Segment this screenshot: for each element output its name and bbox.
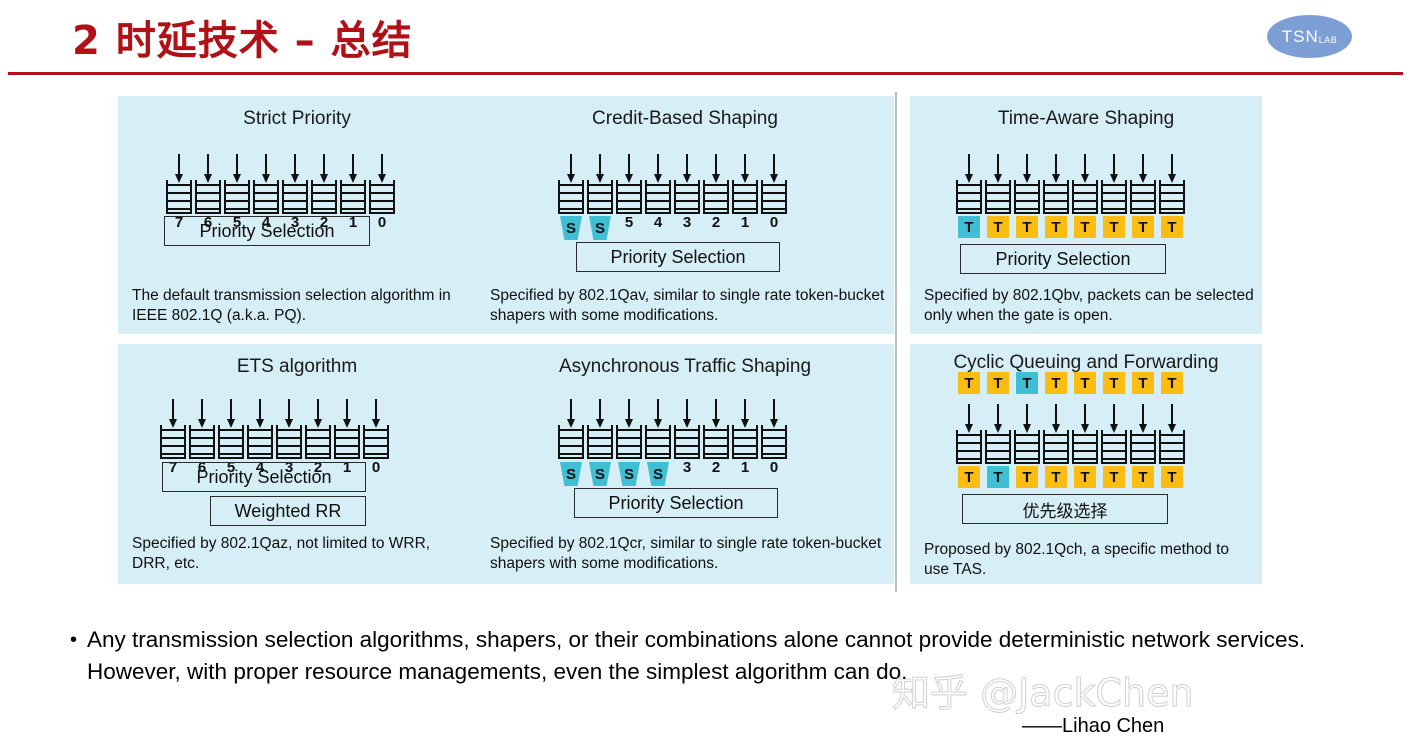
shaper-token: S	[589, 462, 611, 486]
ingress-arrow-icon	[997, 154, 999, 176]
panel-title: ETS algorithm	[118, 356, 476, 378]
queue-slot-line	[589, 184, 611, 186]
queue-slot-line	[705, 208, 727, 210]
queue-slot-line	[191, 453, 213, 455]
ingress-arrow-icon	[997, 404, 999, 426]
queue-box	[1043, 430, 1069, 464]
queue-slot-line	[987, 434, 1009, 436]
queue-slot-line	[705, 192, 727, 194]
gate-token: T	[1074, 216, 1096, 238]
queue-box	[363, 425, 389, 459]
queue-slot-line	[763, 453, 785, 455]
queue-slot-line	[249, 453, 271, 455]
ingress-arrow-icon	[172, 399, 174, 421]
ingress-arrow-icon	[1026, 404, 1028, 426]
queue-slot-line	[307, 445, 329, 447]
gate-token: T	[1016, 216, 1038, 238]
queue-slot-line	[162, 445, 184, 447]
queue-slot-line	[958, 200, 980, 202]
queue-slot-line	[987, 184, 1009, 186]
queue-slot-line	[987, 208, 1009, 210]
queue-slot-line	[365, 453, 387, 455]
ingress-arrow-icon	[744, 154, 746, 176]
queue-slot-line	[1132, 208, 1154, 210]
queue-slot-line	[618, 437, 640, 439]
panel-grid: Strict Priority76543210Priority Selectio…	[0, 92, 1411, 592]
queue-slot-line	[560, 437, 582, 439]
shaper-token: S	[560, 462, 582, 486]
panel-description: Proposed by 802.1Qch, a specific method …	[924, 540, 1254, 580]
queue-slot-line	[1103, 450, 1125, 452]
queue-slot-line	[1045, 458, 1067, 460]
queue-priority-label: 2	[703, 459, 729, 476]
queue-box	[253, 180, 279, 214]
queue-slot-line	[1045, 200, 1067, 202]
logo-text-main: TSN	[1282, 27, 1319, 47]
queue-slot-line	[763, 200, 785, 202]
queue-slot-line	[1016, 200, 1038, 202]
queue-slot-line	[618, 429, 640, 431]
panel-description: Specified by 802.1Qav, similar to single…	[490, 286, 886, 326]
queue-box	[1101, 180, 1127, 214]
panel-2: Credit-Based Shaping76543210SSPriority S…	[476, 96, 894, 334]
ingress-arrow-icon	[773, 399, 775, 421]
queue-slot-line	[958, 442, 980, 444]
summary-bullet-text: Any transmission selection algorithms, s…	[87, 624, 1360, 688]
queue-slot-line	[1132, 458, 1154, 460]
queue-slot-line	[197, 192, 219, 194]
queue-box	[985, 180, 1011, 214]
queue-box	[1130, 430, 1156, 464]
queue-slot-line	[705, 437, 727, 439]
queue-slot-line	[560, 192, 582, 194]
queue-slot-line	[734, 200, 756, 202]
ingress-arrow-icon	[201, 399, 203, 421]
queue-slot-line	[1103, 208, 1125, 210]
slide-header: 2 时延技术 – 总结 TSNLAB	[0, 0, 1411, 80]
panel-title: Time-Aware Shaping	[910, 108, 1262, 130]
queue-box	[761, 180, 787, 214]
queue-slot-line	[1161, 208, 1183, 210]
queue-slot-line	[1132, 442, 1154, 444]
panel-title: Credit-Based Shaping	[476, 108, 894, 130]
gate-token: T	[1045, 216, 1067, 238]
panel-3: Time-Aware Shaping76543210TTTTTTTTPriori…	[910, 96, 1262, 334]
gate-token: T	[1132, 466, 1154, 488]
queue-slot-line	[1103, 458, 1125, 460]
ingress-arrow-icon	[1113, 154, 1115, 176]
queue-slot-line	[284, 184, 306, 186]
ingress-arrow-icon	[968, 404, 970, 426]
queue-slot-line	[1161, 192, 1183, 194]
queue-slot-line	[1132, 192, 1154, 194]
queue-slot-line	[763, 445, 785, 447]
panel-description: The default transmission selection algor…	[132, 286, 468, 326]
queue-slot-line	[1045, 434, 1067, 436]
queue-slot-line	[987, 200, 1009, 202]
queue-slot-line	[249, 445, 271, 447]
queue-slot-line	[1074, 458, 1096, 460]
queue-slot-line	[676, 184, 698, 186]
queue-slot-line	[371, 192, 393, 194]
gate-token: T	[1103, 466, 1125, 488]
queue-slot-line	[191, 445, 213, 447]
queue-slot-line	[734, 184, 756, 186]
queue-slot-line	[249, 429, 271, 431]
queue-slot-line	[676, 208, 698, 210]
queue-slot-line	[734, 192, 756, 194]
ingress-arrow-icon	[1084, 154, 1086, 176]
queue-box	[224, 180, 250, 214]
queue-box	[218, 425, 244, 459]
queue-slot-line	[278, 429, 300, 431]
queue-slot-line	[1045, 442, 1067, 444]
queue-slot-line	[958, 208, 980, 210]
queue-slot-line	[220, 453, 242, 455]
ingress-arrow-icon	[288, 399, 290, 421]
queue-box	[189, 425, 215, 459]
queue-slot-line	[168, 184, 190, 186]
queue-slot-line	[1074, 200, 1096, 202]
selection-box[interactable]: Priority Selection	[960, 244, 1166, 274]
ingress-arrow-icon	[375, 399, 377, 421]
selection-box[interactable]: Priority Selection	[576, 242, 780, 272]
gate-token: T	[1045, 466, 1067, 488]
ingress-arrow-icon	[1055, 404, 1057, 426]
queue-box	[369, 180, 395, 214]
ingress-arrow-icon	[744, 399, 746, 421]
queue-slot-line	[763, 429, 785, 431]
queue-slot-line	[336, 445, 358, 447]
column-divider	[895, 92, 897, 592]
queue-slot-line	[162, 437, 184, 439]
ingress-arrow-icon	[628, 399, 630, 421]
queue-slot-line	[284, 208, 306, 210]
shaper-token: S	[560, 216, 582, 240]
queue-slot-line	[371, 208, 393, 210]
queue-slot-line	[371, 200, 393, 202]
queue-slot-line	[676, 445, 698, 447]
gate-token: T	[1016, 372, 1038, 394]
queue-slot-line	[255, 192, 277, 194]
selection-box[interactable]: Priority Selection	[574, 488, 778, 518]
queue-box	[1014, 430, 1040, 464]
queue-slot-line	[560, 445, 582, 447]
queue-box	[1130, 180, 1156, 214]
gate-token: T	[987, 466, 1009, 488]
ingress-arrow-icon	[686, 154, 688, 176]
queue-slot-line	[676, 192, 698, 194]
queue-slot-line	[987, 442, 1009, 444]
ingress-arrow-icon	[352, 154, 354, 176]
queue-slot-line	[987, 450, 1009, 452]
queue-slot-line	[618, 192, 640, 194]
panel-6: Cyclic Queuing and ForwardingTTTTTTTT765…	[910, 344, 1262, 584]
gate-token: T	[1045, 372, 1067, 394]
queue-slot-line	[284, 192, 306, 194]
gate-token: T	[1103, 372, 1125, 394]
ingress-arrow-icon	[1055, 154, 1057, 176]
queue-slot-line	[226, 200, 248, 202]
queue-slot-line	[336, 429, 358, 431]
queue-slot-line	[1132, 200, 1154, 202]
queue-slot-line	[226, 192, 248, 194]
queue-slot-line	[162, 429, 184, 431]
queue-slot-line	[734, 429, 756, 431]
queue-box	[587, 425, 613, 459]
queue-priority-label: 3	[674, 459, 700, 476]
queue-box	[1043, 180, 1069, 214]
queue-slot-line	[1016, 450, 1038, 452]
queue-slot-line	[1045, 208, 1067, 210]
ingress-arrow-icon	[1084, 404, 1086, 426]
queue-slot-line	[618, 184, 640, 186]
queue-slot-line	[618, 208, 640, 210]
queue-slot-line	[647, 208, 669, 210]
gate-token: T	[958, 372, 980, 394]
queue-slot-line	[987, 458, 1009, 460]
ingress-arrow-icon	[346, 399, 348, 421]
queue-box	[956, 180, 982, 214]
queue-slot-line	[560, 200, 582, 202]
queue-slot-line	[313, 208, 335, 210]
queue-box	[334, 425, 360, 459]
ingress-arrow-icon	[294, 154, 296, 176]
queue-slot-line	[1016, 208, 1038, 210]
queue-slot-line	[1016, 184, 1038, 186]
queue-box	[160, 425, 186, 459]
ingress-arrow-icon	[570, 399, 572, 421]
queue-priority-label: 1	[732, 214, 758, 231]
queue-slot-line	[676, 429, 698, 431]
queue-slot-line	[1016, 458, 1038, 460]
queue-priority-label: 0	[761, 459, 787, 476]
queue-box	[645, 425, 671, 459]
ingress-arrow-icon	[381, 154, 383, 176]
queue-box	[247, 425, 273, 459]
queue-slot-line	[278, 437, 300, 439]
queue-slot-line	[1103, 200, 1125, 202]
queue-slot-line	[705, 429, 727, 431]
ingress-arrow-icon	[1171, 154, 1173, 176]
queue-slot-line	[307, 437, 329, 439]
queue-slot-line	[618, 200, 640, 202]
attribution-text: ——Lihao Chen	[1022, 715, 1164, 738]
queue-slot-line	[958, 192, 980, 194]
queue-slot-line	[313, 192, 335, 194]
queue-slot-line	[1074, 434, 1096, 436]
footer-bullet-block: • Any transmission selection algorithms,…	[70, 624, 1360, 688]
queue-slot-line	[647, 437, 669, 439]
queue-slot-line	[1103, 442, 1125, 444]
gate-token: T	[1074, 372, 1096, 394]
queue-slot-line	[589, 200, 611, 202]
queue-slot-line	[1103, 192, 1125, 194]
queue-slot-line	[168, 208, 190, 210]
queue-slot-line	[220, 437, 242, 439]
queue-slot-line	[589, 437, 611, 439]
queue-slot-line	[676, 453, 698, 455]
queue-box	[645, 180, 671, 214]
ingress-arrow-icon	[657, 154, 659, 176]
queue-box	[1159, 180, 1185, 214]
ingress-arrow-icon	[599, 399, 601, 421]
panel-description: Specified by 802.1Qcr, similar to single…	[490, 534, 886, 574]
queue-slot-line	[589, 445, 611, 447]
panel-1: Strict Priority76543210Priority Selectio…	[118, 96, 476, 334]
queue-slot-line	[191, 429, 213, 431]
queue-box	[616, 180, 642, 214]
panel-title: Strict Priority	[118, 108, 476, 130]
queue-priority-label: 1	[732, 459, 758, 476]
queue-slot-line	[763, 192, 785, 194]
queue-box	[587, 180, 613, 214]
queue-slot-line	[1016, 434, 1038, 436]
queue-slot-line	[197, 200, 219, 202]
queue-slot-line	[647, 192, 669, 194]
queue-slot-line	[255, 184, 277, 186]
queue-slot-line	[1161, 458, 1183, 460]
gate-token: T	[1103, 216, 1125, 238]
queue-slot-line	[1103, 434, 1125, 436]
ingress-arrow-icon	[773, 154, 775, 176]
queue-box	[674, 180, 700, 214]
queue-slot-line	[1074, 192, 1096, 194]
queue-slot-line	[365, 437, 387, 439]
queue-slot-line	[647, 200, 669, 202]
queue-priority-label: 4	[645, 214, 671, 231]
queue-box	[985, 430, 1011, 464]
queue-slot-line	[313, 200, 335, 202]
ingress-arrow-icon	[686, 399, 688, 421]
ingress-arrow-icon	[715, 399, 717, 421]
queue-slot-line	[168, 192, 190, 194]
gate-token: T	[987, 216, 1009, 238]
queue-slot-line	[676, 437, 698, 439]
selection-box[interactable]: Weighted RR	[210, 496, 366, 526]
queue-slot-line	[278, 453, 300, 455]
queue-slot-line	[763, 208, 785, 210]
shaper-token: S	[618, 462, 640, 486]
queue-box	[311, 180, 337, 214]
queue-slot-line	[313, 184, 335, 186]
selection-box[interactable]: 优先级选择	[962, 494, 1168, 524]
queue-slot-line	[734, 437, 756, 439]
queue-slot-line	[226, 208, 248, 210]
queue-box	[1072, 180, 1098, 214]
tsn-lab-logo: TSNLAB	[1267, 15, 1352, 58]
queue-slot-line	[1045, 184, 1067, 186]
queue-slot-line	[336, 453, 358, 455]
queue-box	[703, 180, 729, 214]
gate-token: T	[1074, 466, 1096, 488]
queue-slot-line	[763, 437, 785, 439]
ingress-arrow-icon	[1113, 404, 1115, 426]
ingress-arrow-icon	[570, 154, 572, 176]
queue-slot-line	[371, 184, 393, 186]
shaper-token: S	[647, 462, 669, 486]
ingress-arrow-icon	[715, 154, 717, 176]
queue-slot-line	[958, 184, 980, 186]
queue-slot-line	[705, 200, 727, 202]
gate-token: T	[1161, 216, 1183, 238]
queue-priority-label: 2	[703, 214, 729, 231]
queue-slot-line	[1016, 442, 1038, 444]
queue-slot-line	[1132, 434, 1154, 436]
bullet-marker-icon: •	[70, 630, 77, 650]
ingress-arrow-icon	[207, 154, 209, 176]
ingress-arrow-icon	[1142, 154, 1144, 176]
queue-box	[1014, 180, 1040, 214]
queue-slot-line	[365, 429, 387, 431]
gate-token: T	[987, 372, 1009, 394]
queue-slot-line	[307, 453, 329, 455]
queue-slot-line	[284, 200, 306, 202]
queue-box	[674, 425, 700, 459]
queue-slot-line	[1161, 442, 1183, 444]
queue-box	[195, 180, 221, 214]
queue-slot-line	[1074, 184, 1096, 186]
queue-box	[732, 425, 758, 459]
queue-box	[558, 425, 584, 459]
panel-description: Specified by 802.1Qbv, packets can be se…	[924, 286, 1254, 326]
queue-slot-line	[255, 208, 277, 210]
panel-description: Specified by 802.1Qaz, not limited to WR…	[132, 534, 468, 574]
queue-slot-line	[255, 200, 277, 202]
queue-box	[340, 180, 366, 214]
gate-token: T	[958, 466, 980, 488]
ingress-arrow-icon	[1171, 404, 1173, 426]
selection-box[interactable]: Priority Selection	[162, 462, 366, 492]
queue-slot-line	[220, 445, 242, 447]
queue-priority-label: 0	[363, 459, 389, 476]
gate-token: T	[958, 216, 980, 238]
queue-slot-line	[342, 192, 364, 194]
queue-box	[166, 180, 192, 214]
queue-slot-line	[191, 437, 213, 439]
panel-title: Asynchronous Traffic Shaping	[476, 356, 894, 378]
queue-slot-line	[1016, 192, 1038, 194]
queue-slot-line	[647, 184, 669, 186]
queue-slot-line	[705, 445, 727, 447]
queue-slot-line	[958, 434, 980, 436]
queue-slot-line	[1074, 208, 1096, 210]
queue-slot-line	[987, 192, 1009, 194]
queue-slot-line	[676, 200, 698, 202]
queue-slot-line	[342, 184, 364, 186]
shaper-token: S	[589, 216, 611, 240]
ingress-arrow-icon	[323, 154, 325, 176]
gate-token: T	[1016, 466, 1038, 488]
gate-token: T	[1132, 216, 1154, 238]
queue-box	[616, 425, 642, 459]
panel-4: ETS algorithm76543210Priority SelectionW…	[118, 344, 476, 584]
queue-box	[282, 180, 308, 214]
queue-priority-label: 5	[616, 214, 642, 231]
queue-slot-line	[1161, 434, 1183, 436]
selection-box[interactable]: Priority Selection	[164, 216, 370, 246]
queue-slot-line	[1103, 184, 1125, 186]
queue-slot-line	[278, 445, 300, 447]
queue-slot-line	[618, 445, 640, 447]
logo-text-sub: LAB	[1319, 35, 1338, 45]
queue-priority-label: 3	[674, 214, 700, 231]
queue-slot-line	[647, 429, 669, 431]
queue-slot-line	[1045, 192, 1067, 194]
queue-slot-line	[220, 429, 242, 431]
queue-slot-line	[560, 208, 582, 210]
queue-slot-line	[958, 450, 980, 452]
